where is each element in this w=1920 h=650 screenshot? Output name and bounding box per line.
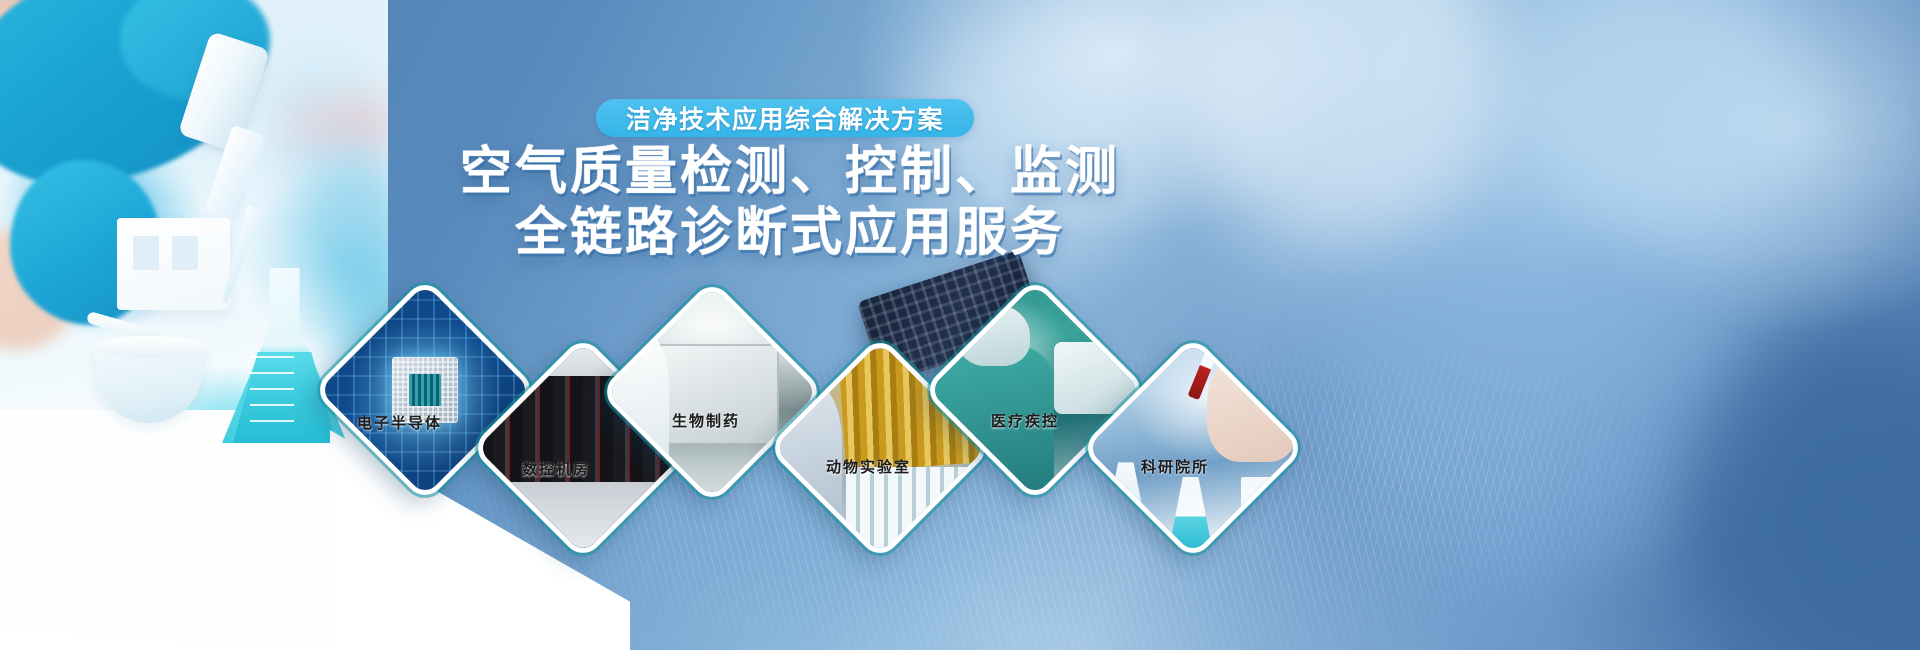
lab-bench-surface: [0, 410, 388, 650]
bokeh-blob: [1330, 230, 1750, 570]
mortar-bowl-rim: [92, 336, 206, 358]
industry-label-semiconductor[interactable]: 电子半导体: [357, 412, 442, 433]
forearm: [0, 0, 100, 130]
industry-label-medical[interactable]: 医疗疾控: [991, 410, 1059, 431]
bokeh-blob: [1500, 0, 1800, 240]
mortar-bowl: [95, 345, 203, 423]
erlenmeyer-flask: [222, 268, 347, 443]
headline-line-1: 空气质量检测、控制、监测: [460, 143, 1120, 201]
tube-rack-slot: [133, 236, 159, 270]
industry-label-research[interactable]: 科研院所: [1141, 456, 1209, 477]
tube-rack-slot: [172, 236, 198, 270]
glassware: [1169, 477, 1212, 549]
flask-scale-marks: [250, 356, 294, 422]
industry-label-biopharma[interactable]: 生物制药: [672, 410, 740, 431]
tagline-text: 洁净技术应用综合解决方案: [626, 100, 944, 136]
pestle: [86, 311, 168, 345]
gloved-thumb: [120, 0, 270, 100]
bokeh-blob: [1180, 0, 1510, 240]
gloved-hand-mid: [10, 160, 160, 325]
tagline-pill: 洁净技术应用综合解决方案: [596, 99, 974, 137]
photo-bokeh: [285, 100, 340, 148]
wrist: [0, 230, 80, 350]
hero-banner: 洁净技术应用综合解决方案 空气质量检测、控制、监测 全链路诊断式应用服务 电子半…: [0, 0, 1920, 650]
photo-bokeh: [140, 100, 260, 190]
chip-die: [409, 374, 441, 406]
pipette-tip: [217, 205, 263, 305]
industry-label-datacenter[interactable]: 数控机房: [522, 458, 590, 479]
headline-line-2: 全链路诊断式应用服务: [460, 203, 1120, 264]
bokeh-blob: [1680, 330, 1920, 650]
page-title: 空气质量检测、控制、监测 全链路诊断式应用服务: [460, 142, 1120, 264]
industry-label-animal-lab[interactable]: 动物实验室: [826, 456, 911, 477]
tube-rack: [117, 218, 230, 310]
left-lab-photo: [0, 0, 388, 650]
